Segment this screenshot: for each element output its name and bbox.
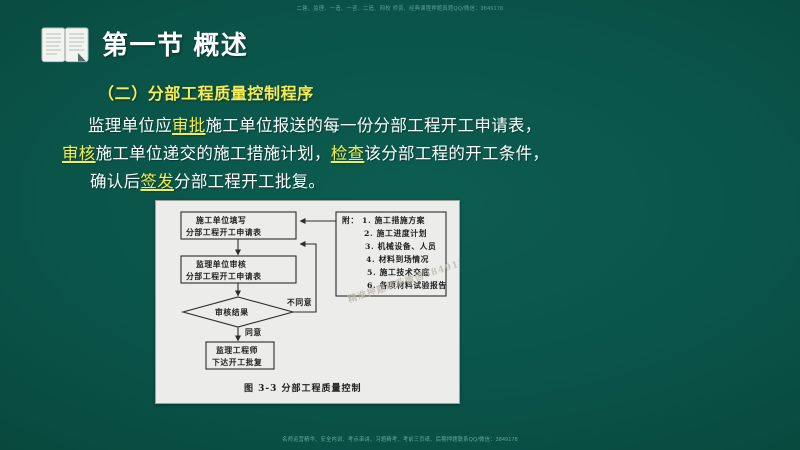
body-paragraph: 监理单位应审批施工单位报送的每一份分部工程开工申请表， 审核施工单位递交的施工措…	[62, 112, 582, 196]
attachment-item-4: 4. 材料到场情况	[366, 254, 429, 265]
box-review-line-2: 分部工程开工申请表	[186, 271, 262, 282]
attachment-prefix: 附：	[342, 215, 359, 226]
box-apply-line-1: 施工单位填写	[196, 215, 246, 226]
flowchart-figure: 施工单位填写 分部工程开工申请表 监理单位审核 分部工程开工申请表 审核结果 不…	[155, 200, 460, 404]
slide-canvas: 二建、监理、一造、一咨、二造、网校 师资、经典课程押题真题QQ/微信：38491…	[0, 0, 800, 450]
body-highlight-inspect: 检查	[331, 145, 365, 163]
attachment-item-1: 1. 施工措施方案	[362, 215, 425, 226]
body-highlight-issue: 签发	[140, 173, 174, 191]
body-line-2: 审核施工单位递交的施工措施计划，检查该分部工程的开工条件，	[62, 140, 582, 168]
bottom-banner: 名师运营精华、安全内训、考点串讲、习题精考、考前三页纸、后期押题联系QQ/微信：…	[0, 428, 800, 450]
page-title: 第一节 概述	[40, 26, 248, 64]
bottom-banner-text: 名师运营精华、安全内训、考点串讲、习题精考、考前三页纸、后期押题联系QQ/微信：…	[282, 435, 518, 443]
box-approve-line-1: 监理工程师	[216, 345, 258, 356]
top-banner: 二建、监理、一造、一咨、二造、网校 师资、经典课程押题真题QQ/微信：38491…	[0, 0, 800, 16]
body-line-1-part-a: 监理单位应	[88, 117, 172, 135]
body-line-1: 监理单位应审批施工单位报送的每一份分部工程开工申请表，	[62, 112, 582, 140]
attachment-item-3: 3. 机械设备、人员	[365, 241, 436, 252]
body-line-2-part-a: 施工单位递交的施工措施计划，	[96, 145, 331, 163]
body-line-3: 确认后签发分部工程开工批复。	[62, 168, 582, 196]
box-approve-line-2: 下达开工批复	[212, 357, 262, 368]
body-line-3-part-b: 分部工程开工批复。	[174, 173, 325, 191]
section-subtitle: （二）分部工程质量控制程序	[98, 80, 314, 104]
body-highlight-audit: 审核	[62, 145, 96, 163]
body-line-2-part-b: 该分部工程的开工条件，	[364, 145, 549, 163]
body-line-1-part-b: 施工单位报送的每一份分部工程开工申请表，	[206, 117, 542, 135]
attachment-item-2: 2. 施工进度计划	[364, 228, 427, 239]
page-title-text: 第一节 概述	[102, 32, 248, 58]
box-apply-line-2: 分部工程开工申请表	[186, 227, 262, 238]
body-highlight-approve: 审批	[172, 117, 206, 135]
open-book-icon	[40, 26, 90, 64]
body-line-3-part-a: 确认后	[90, 173, 140, 191]
decision-label: 审核结果	[215, 307, 249, 318]
box-review-line-1: 监理单位审核	[196, 259, 246, 270]
edge-label-accept: 同意	[245, 327, 262, 338]
top-banner-text: 二建、监理、一造、一咨、二造、网校 师资、经典课程押题真题QQ/微信：38491…	[297, 4, 504, 12]
figure-caption: 图 3-3 分部工程质量控制	[244, 381, 362, 394]
edge-label-reject: 不同意	[287, 297, 312, 308]
